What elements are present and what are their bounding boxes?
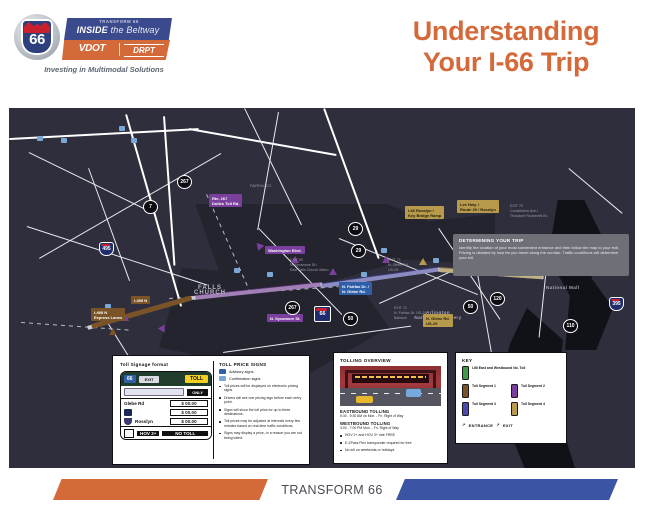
sign-key-confirmation: Confirmation signs <box>219 376 305 381</box>
key-items: I-66 East and Westbound No. Toll Toll Se… <box>462 366 560 420</box>
sign-destination: Rosslyn <box>135 419 167 424</box>
route-shield-267: 267 <box>177 175 192 189</box>
logo-divider <box>119 43 120 56</box>
bridge-icon <box>124 418 132 425</box>
map-county-note: FAIRFAX CO. <box>247 182 275 190</box>
page-title: Understanding Your I-66 Trip <box>356 16 656 78</box>
key-label: Toll Segment 1 <box>472 384 496 388</box>
map-label-rosslyn-key-bridge: I-66 Rosslyn /Key Bridge Ramp <box>405 206 444 219</box>
hov-square-icon <box>124 429 134 438</box>
panel-divider <box>213 361 214 459</box>
sign-toll-label: TOLL <box>185 375 208 383</box>
map-label-i495-express-lanes: I-495 NExpress Lanes <box>91 308 125 321</box>
vms-sign <box>352 374 429 383</box>
logo-beltway: the Beltway <box>108 25 159 35</box>
sign-price: $ 00.00 <box>170 418 208 425</box>
route-shield-50-east: 50 <box>463 300 478 314</box>
key-label: Toll Segment 2 <box>521 384 545 388</box>
route-shield-29-north: 29 <box>348 222 363 236</box>
entrance-arrow-icon: ↗ <box>462 421 466 429</box>
station-marker <box>433 258 439 263</box>
station-marker <box>234 268 240 273</box>
key-item-segment-4: Toll Segment 4 <box>511 402 560 416</box>
route-shield-110: 110 <box>563 319 578 333</box>
route-shield-50: 50 <box>343 312 358 326</box>
station-marker <box>61 138 67 143</box>
title-line-1: Understanding <box>356 16 656 47</box>
sign-graphic: 66 EXIT TOLL ONLY Glebe Rd $ 00.00 $ 00.… <box>120 371 212 440</box>
key-label: I-66 East and Westbound No. Toll <box>472 366 525 370</box>
title-line-2: Your I-66 Trip <box>356 47 656 78</box>
map-key-panel: KEY I-66 East and Westbound No. Toll Tol… <box>455 352 567 444</box>
key-item-segment-3: Toll Segment 3 <box>462 402 511 416</box>
signage-bullet: Drivers will see one pricing sign before… <box>219 396 305 405</box>
logo-inside: INSIDE <box>77 25 108 35</box>
place-label-national-mall: National Mall <box>543 283 583 291</box>
station-marker <box>361 272 367 277</box>
key-entrance-exit-row: ↗ ENTRANCE ↗ EXIT <box>462 421 560 429</box>
key-item-no-toll: I-66 East and Westbound No. Toll <box>462 366 560 380</box>
callout-body: Identify the location of your most conve… <box>459 245 623 261</box>
map-exit-note: EXIT 69N. Sycamore St./East Falls Church… <box>287 256 332 274</box>
tolling-overview-panel: TOLLING OVERVIEW EASTBOUND TOLLING 5:30 … <box>333 352 448 464</box>
logo-kicker: TRANSFORM 66 <box>72 19 166 24</box>
tolling-overview-title: TOLLING OVERVIEW <box>340 358 441 363</box>
map-label-n-fairfax-dr: N. Fairfax Dr. /N. Glebe Rd. <box>339 282 372 295</box>
map-label-lee-hwy-rosslyn: Lee Hwy. /Route 29 / Rosslyn <box>457 200 499 213</box>
confirmation-label: Confirmation signs <box>229 377 260 381</box>
signage-bullet: Signs may display a price, or a reason y… <box>219 431 305 440</box>
entrance-arrow-marker <box>109 328 117 335</box>
key-swatch <box>511 402 518 416</box>
station-marker <box>131 138 137 143</box>
advisory-label: Advisory signs <box>229 370 253 374</box>
key-label: Toll Segment 3 <box>472 402 496 406</box>
toll-signage-panel: Toll Signage format 66 EXIT TOLL ONLY Gl… <box>112 355 310 465</box>
tolling-note: E-ZPass Flex transponder required for fr… <box>340 441 441 445</box>
tolling-note: HOV 2+ and HOV 3+ ride FREE <box>340 433 441 437</box>
signage-title: Toll Signage format <box>120 362 212 367</box>
tolling-note: No toll on weekends or holidays <box>340 448 441 452</box>
logo-tagline: Investing in Multimodal Solutions <box>30 65 178 74</box>
confirmation-swatch <box>219 376 226 381</box>
map-exit-note: EXIT 71N. Glebe Rd.US-29 <box>385 256 412 274</box>
sign-only-label: ONLY <box>187 389 208 396</box>
page-header: 66 TRANSFORM 66 INSIDE the Beltway VDOT … <box>0 0 670 104</box>
signage-bullet: Signs will show the toll price for up to… <box>219 408 305 417</box>
sign-hov-label: HOV 2+ <box>137 431 159 436</box>
signage-bullet: Toll prices may be adjusted at intervals… <box>219 419 305 428</box>
map-label-n-sycamore-st: N. Sycamore St. <box>267 314 303 322</box>
shield-number: 66 <box>21 32 53 48</box>
station-marker <box>37 136 43 141</box>
page-footer: TRANSFORM 66 <box>0 473 670 507</box>
sign-lane-pill <box>124 388 184 396</box>
route-shield-7: 7 <box>143 200 158 214</box>
sign-hov-value: NO TOLL <box>162 431 208 436</box>
route-shield-29: 29 <box>351 244 366 258</box>
transform-66-logo: 66 TRANSFORM 66 INSIDE the Beltway VDOT … <box>14 12 174 74</box>
logo-agency-drpt: DRPT <box>124 44 164 57</box>
sign-destination: Glebe Rd <box>124 401 167 406</box>
map-label-i495-north: I-495 N <box>131 296 150 304</box>
footer-text: TRANSFORM 66 <box>268 483 396 497</box>
callout-title: DETERMINING YOUR TRIP <box>459 238 623 243</box>
i66-shield-icon: 66 <box>14 14 60 60</box>
key-title: KEY <box>462 358 560 363</box>
gantry-photo <box>340 366 441 406</box>
sign-route-badge: 66 <box>124 375 136 383</box>
sign-price-row: $ 00.00 <box>121 408 211 417</box>
logo-main-text: INSIDE the Beltway <box>68 25 168 35</box>
sign-header-row: 66 EXIT TOLL <box>121 372 211 386</box>
key-swatch <box>462 402 469 416</box>
key-swatch <box>462 384 469 398</box>
eastbound-body: 5:30 - 9:30 AM on Mon. - Fri. Right of W… <box>340 414 441 418</box>
sign-price-row: Glebe Rd $ 00.00 <box>121 399 211 408</box>
exit-label: EXIT <box>503 423 513 428</box>
determining-your-trip-callout: DETERMINING YOUR TRIP Identify the locat… <box>453 234 629 276</box>
toll-price-signs-title: TOLL PRICE SIGNS <box>219 362 305 367</box>
sign-price: $ 00.00 <box>170 409 208 416</box>
key-item-segment-1: Toll Segment 1 <box>462 384 511 398</box>
key-label: Toll Segment 4 <box>521 402 545 406</box>
car-yellow <box>356 396 373 403</box>
sign-price: $ 00.00 <box>170 400 208 407</box>
route-shield-i66: 66 <box>314 306 331 322</box>
sign-lane-row: ONLY <box>121 386 211 399</box>
sign-key-advisory: Advisory signs <box>219 369 305 374</box>
logo-agency-vdot: VDOT <box>69 43 115 54</box>
metro-icon <box>124 409 132 416</box>
sign-hov-row: HOV 2+ NO TOLL <box>121 426 211 439</box>
route-shield-120: 120 <box>490 292 505 306</box>
map-label-washington-blvd: Washington Blvd. <box>265 246 305 254</box>
station-marker <box>267 272 273 277</box>
gantry-crossbeam <box>345 370 436 373</box>
footer-bar-orange <box>53 479 268 500</box>
place-label-falls-church: FALLSCHURCH <box>191 284 229 297</box>
sign-price-row: Rosslyn $ 00.00 <box>121 417 211 426</box>
key-swatch <box>511 384 518 398</box>
sign-exit-label: EXIT <box>139 376 160 383</box>
map-exit-note: EXIT 75Constitution Ave./Theodore Roosev… <box>507 202 551 220</box>
route-shield-i495: 495 <box>99 242 114 256</box>
key-swatch <box>462 366 469 380</box>
route-shield-i395: 395 <box>609 297 624 311</box>
signage-bullet: Toll prices will be displayed on electro… <box>219 384 305 393</box>
toll-price-signs-info: TOLL PRICE SIGNS Advisory signs Confirma… <box>219 362 305 440</box>
exit-arrow-marker <box>419 258 427 265</box>
route-shield-267-east: 267 <box>285 301 300 315</box>
station-marker <box>381 248 387 253</box>
westbound-body: 3:00 - 7:00 PM Mon. - Fri. Right of Way <box>340 426 441 430</box>
station-marker <box>119 126 125 131</box>
map-label-dulles-toll-rd: Rte. 267Dulles Toll Rd. <box>209 194 242 207</box>
advisory-swatch <box>219 369 226 374</box>
exit-arrow-icon: ↗ <box>496 421 500 429</box>
footer-bar-blue <box>396 479 618 500</box>
map-exit-note: EXIT 71N. Fairfax Dr. US-29/Ballston <box>391 304 430 322</box>
toll-signage-example: Toll Signage format 66 EXIT TOLL ONLY Gl… <box>120 362 212 440</box>
entrance-label: ENTRANCE <box>469 423 494 428</box>
car-blue <box>406 389 421 397</box>
key-item-segment-2: Toll Segment 2 <box>511 384 560 398</box>
